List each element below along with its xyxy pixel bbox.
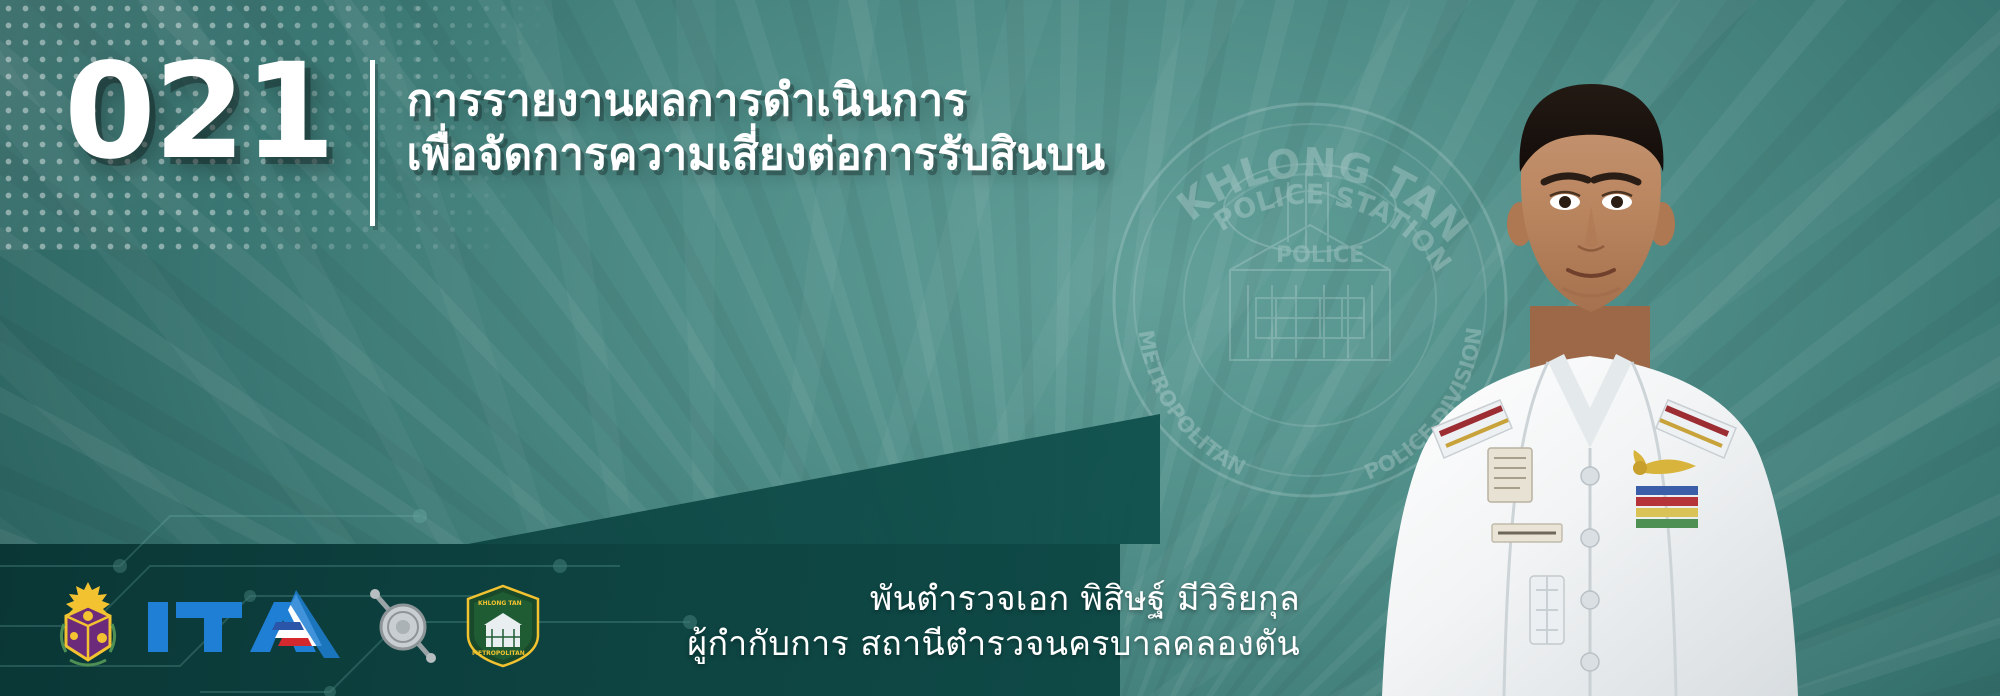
svg-text:KHLONG TAN: KHLONG TAN bbox=[478, 600, 522, 607]
royal-thai-police-emblem bbox=[52, 580, 124, 672]
thai-police-shield-emblem bbox=[364, 585, 442, 667]
ita-banner: KHLONG TAN POLICE STATION METROPOLITAN P… bbox=[0, 0, 2000, 696]
logo-row: KHLONG TAN METROPOLITAN bbox=[52, 580, 542, 672]
officer-info: พันตำรวจเอก พิสิษฐ์ มีวิริยกุล ผู้กำกับก… bbox=[540, 577, 1300, 668]
ita-logo bbox=[146, 588, 342, 664]
svg-text:METROPOLITAN: METROPOLITAN bbox=[472, 650, 525, 657]
title-line-2: เพื่อจัดการความเสี่ยงต่อการรับสินบน bbox=[407, 128, 1106, 182]
officer-photo bbox=[1380, 56, 1800, 696]
vertical-divider bbox=[370, 60, 375, 226]
svg-text:POLICE: POLICE bbox=[1276, 243, 1364, 268]
headline-block: 021 การรายงานผลการดำเนินการ เพื่อจัดการค… bbox=[64, 52, 1105, 226]
title-line-1: การรายงานผลการดำเนินการ bbox=[407, 74, 1106, 128]
page-title: การรายงานผลการดำเนินการ เพื่อจัดการความเ… bbox=[407, 74, 1106, 181]
khlong-tan-station-emblem: KHLONG TAN METROPOLITAN bbox=[464, 583, 542, 669]
officer-position: ผู้กำกับการ สถานีตำรวจนครบาลคลองตัน bbox=[540, 622, 1300, 668]
officer-name: พันตำรวจเอก พิสิษฐ์ มีวิริยกุล bbox=[540, 577, 1300, 623]
item-number: 021 bbox=[64, 52, 370, 173]
